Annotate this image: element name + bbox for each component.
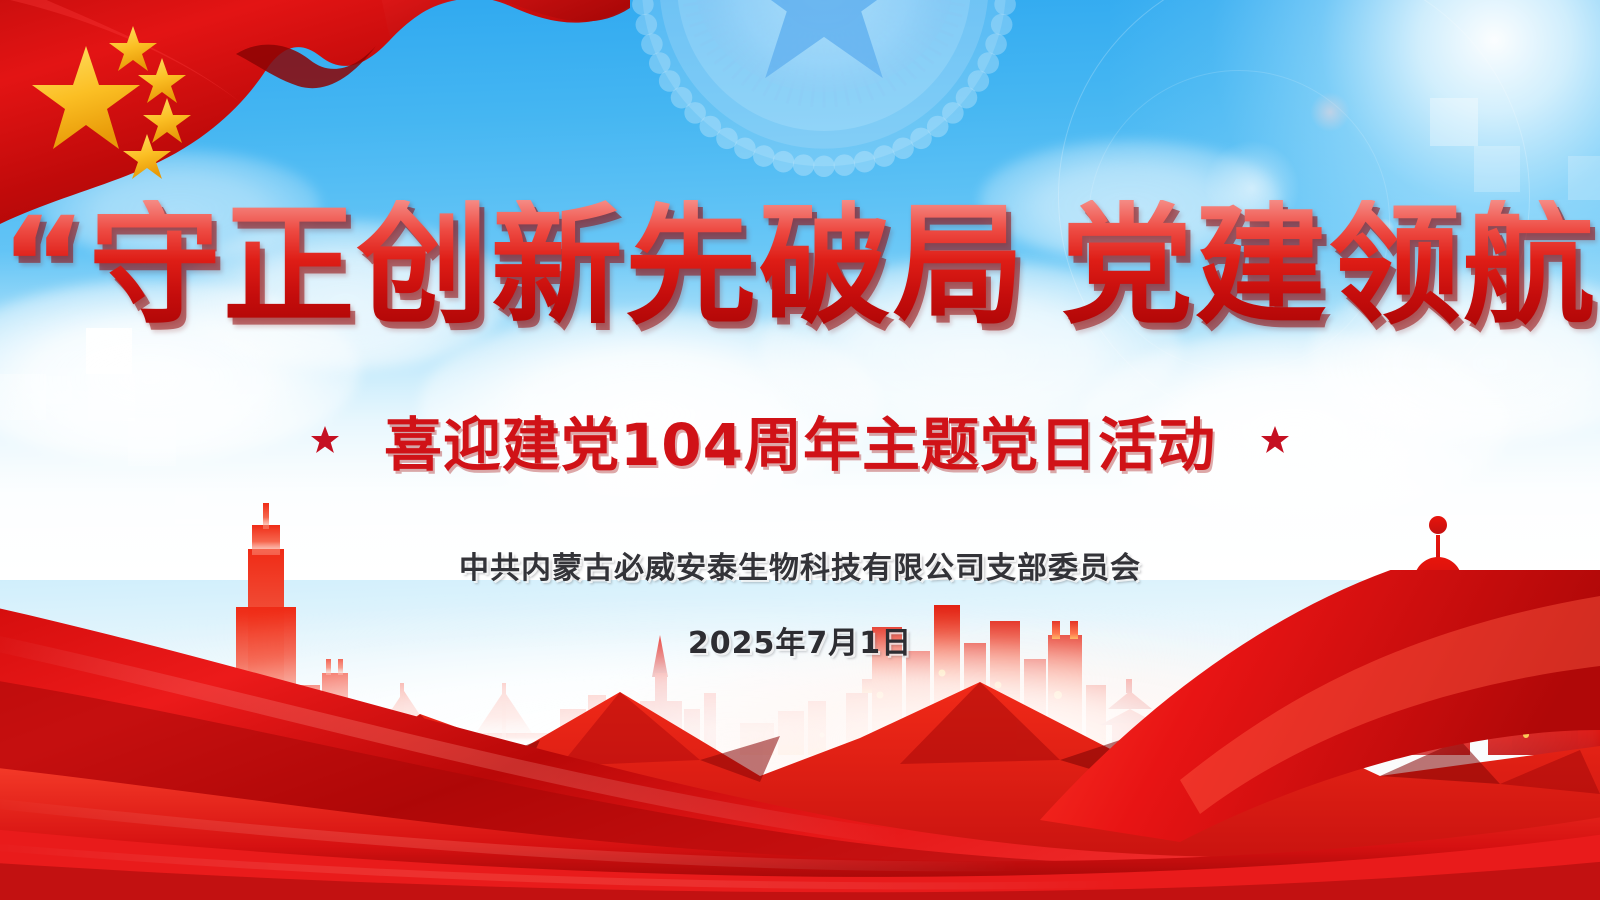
quote-open: “ bbox=[0, 189, 89, 343]
party-day-event-poster: “守正创新先破局党建领航向阳生” 喜迎建党104周年主题党日活动 中共内蒙古必威… bbox=[0, 0, 1600, 900]
organization-name: 中共内蒙古必威安泰生物科技有限公司支部委员会 bbox=[0, 543, 1600, 587]
red-star-icon bbox=[310, 425, 340, 455]
red-star-icon bbox=[1260, 425, 1290, 455]
main-title-part2: 党建领航向阳生 bbox=[1061, 189, 1600, 343]
event-subtitle: 喜迎建党104周年主题党日活动 bbox=[384, 398, 1216, 482]
event-date: 2025年7月1日 bbox=[0, 618, 1600, 662]
poster-text-block: “守正创新先破局党建领航向阳生” 喜迎建党104周年主题党日活动 中共内蒙古必威… bbox=[0, 0, 1600, 900]
subtitle-row: 喜迎建党104周年主题党日活动 bbox=[0, 398, 1600, 482]
main-title-part1: 守正创新先破局 bbox=[89, 189, 1027, 343]
page-title: “守正创新先破局党建领航向阳生” bbox=[0, 200, 1600, 332]
